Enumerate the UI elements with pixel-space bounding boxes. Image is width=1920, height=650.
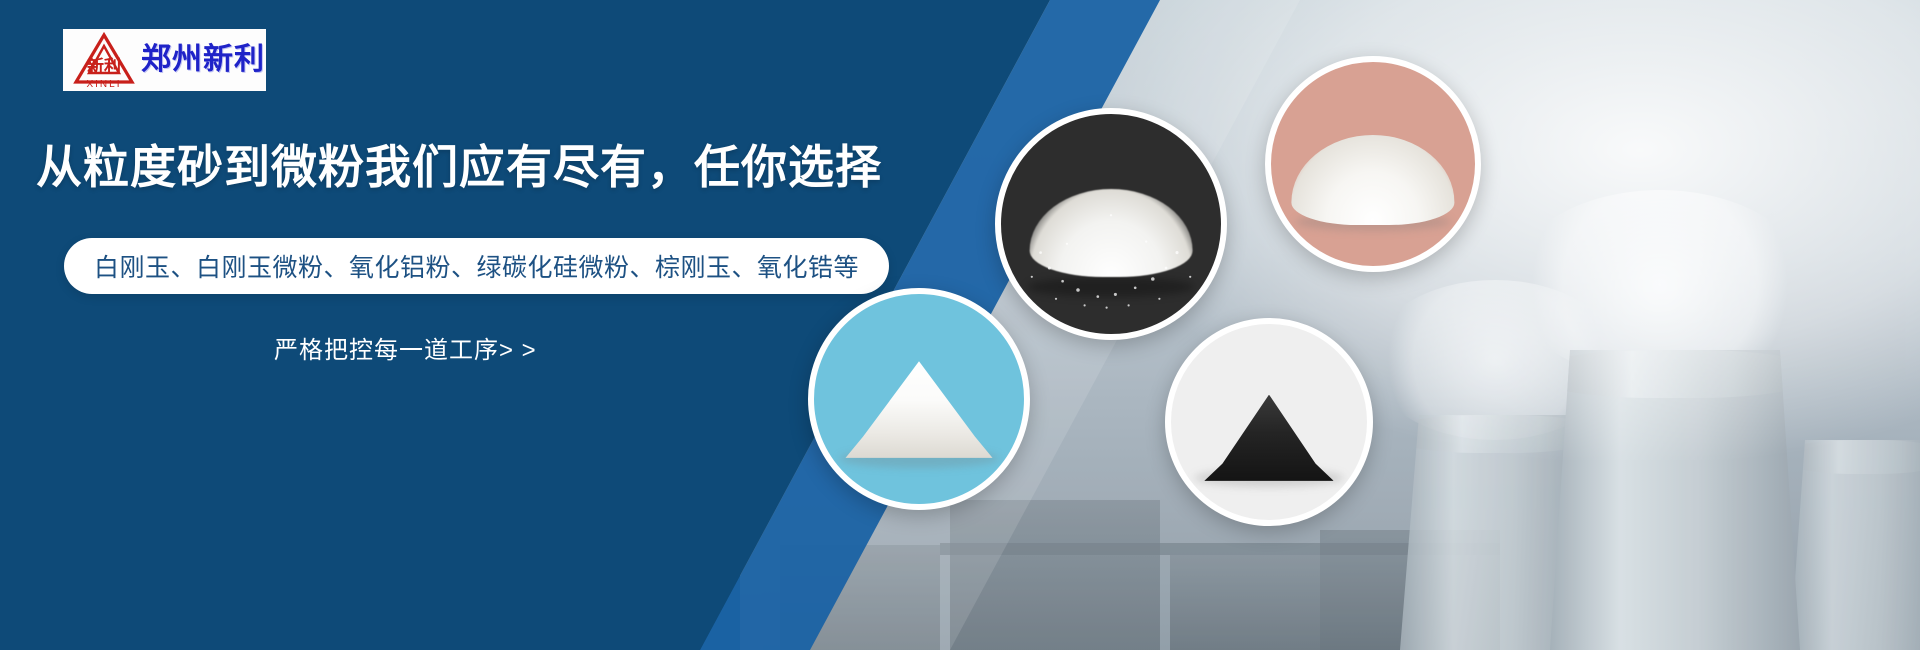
tagline-link[interactable]: 严格把控每一道工序> >	[274, 330, 537, 365]
building	[1170, 555, 1320, 650]
black-grain-cone	[1204, 395, 1333, 481]
headline: 从粒度砂到微粉我们应有尽有，任你选择	[36, 140, 882, 195]
white-powder-mound	[1291, 135, 1454, 225]
product-photo-black-grain-on-white	[1165, 318, 1373, 526]
company-name: 郑州新利	[141, 45, 265, 75]
svg-text:XINLI: XINLI	[86, 79, 121, 88]
company-logo[interactable]: 新利 XINLI 郑州新利	[63, 29, 266, 91]
product-list-text: 白刚玉、白刚玉微粉、氧化铝粉、绿碳化硅微粉、棕刚玉、氧化锆等	[94, 248, 859, 284]
product-photo-white-powder-on-blue	[808, 288, 1030, 510]
product-list-pill: 白刚玉、白刚玉微粉、氧化铝粉、绿碳化硅微粉、棕刚玉、氧化锆等	[64, 238, 889, 294]
cooling-tower	[1790, 440, 1920, 650]
svg-text:新利: 新利	[87, 56, 121, 76]
white-powder-cone	[846, 361, 993, 458]
product-photo-white-grain-on-dark-tray	[995, 108, 1227, 340]
product-photo-white-powder-on-pink-tray	[1265, 56, 1481, 272]
xinli-triangle-icon: 新利 XINLI	[73, 32, 135, 88]
promo-banner: 新利 XINLI 郑州新利 从粒度砂到微粉我们应有尽有，任你选择 白刚玉、白刚玉…	[0, 0, 1920, 650]
